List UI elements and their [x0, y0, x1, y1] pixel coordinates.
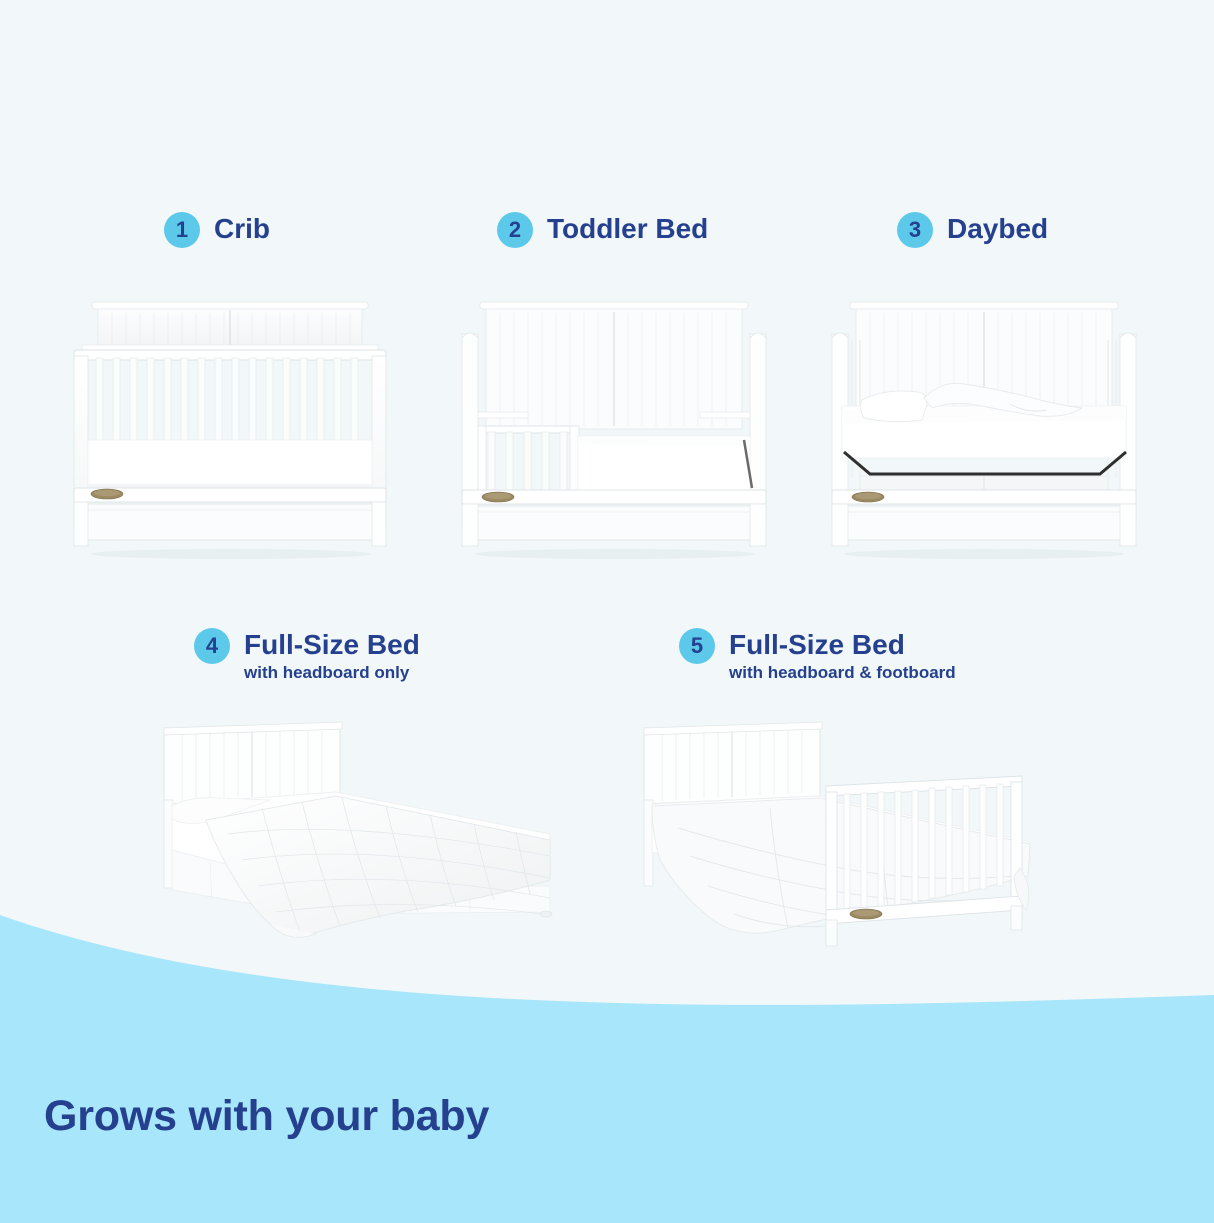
step-label-4: 4 Full-Size Bed with headboard only — [194, 628, 420, 683]
step-text-3: Daybed — [947, 212, 1048, 246]
step-text-4: Full-Size Bed with headboard only — [244, 628, 420, 683]
step-subtitle-4: with headboard only — [244, 663, 420, 683]
full-bed-headboard-icon — [150, 700, 570, 950]
step-badge-2: 2 — [497, 212, 533, 248]
daybed-icon — [814, 288, 1154, 560]
step-label-2: 2 Toddler Bed — [497, 212, 708, 248]
step-badge-4: 4 — [194, 628, 230, 664]
step-badge-5: 5 — [679, 628, 715, 664]
toddler-bed-icon — [444, 288, 784, 560]
step-text-1: Crib — [214, 212, 270, 246]
step-badge-1: 1 — [164, 212, 200, 248]
step-label-1: 1 Crib — [164, 212, 270, 248]
step-subtitle-5: with headboard & footboard — [729, 663, 956, 683]
step-label-5: 5 Full-Size Bed with headboard & footboa… — [679, 628, 956, 683]
full-bed-headboard-footboard-icon — [630, 700, 1050, 950]
crib-front-icon — [60, 288, 400, 560]
step-text-5: Full-Size Bed with headboard & footboard — [729, 628, 956, 683]
step-text-2: Toddler Bed — [547, 212, 708, 246]
step-label-3: 3 Daybed — [897, 212, 1048, 248]
step-title-2: Toddler Bed — [547, 212, 708, 246]
step-title-4: Full-Size Bed — [244, 628, 420, 662]
footer-heading: Grows with your baby — [44, 1092, 489, 1141]
step-badge-3: 3 — [897, 212, 933, 248]
step-title-5: Full-Size Bed — [729, 628, 956, 662]
step-title-3: Daybed — [947, 212, 1048, 246]
step-title-1: Crib — [214, 212, 270, 246]
